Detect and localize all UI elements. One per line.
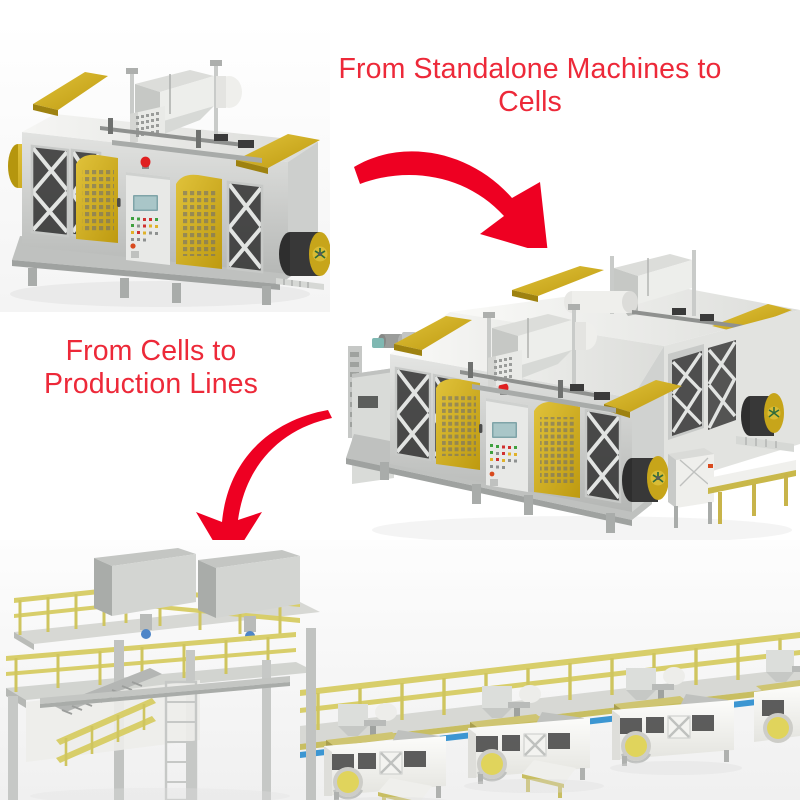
curved-arrow-shape: [354, 151, 548, 254]
caption-cells-to-lines: From Cells to Production Lines: [6, 335, 296, 401]
rear-film-roll: [741, 393, 784, 436]
photo-production-line: [0, 540, 800, 800]
standalone-machine-render: [0, 22, 330, 312]
guard-window-left: [32, 146, 68, 236]
production-line-render: [0, 540, 800, 800]
guard-window-right: [228, 182, 262, 272]
air-receiver-tank: [216, 76, 242, 108]
cell-service-door-left[interactable]: [436, 379, 482, 470]
cell-front-film-roll: [622, 456, 669, 502]
infographic-canvas: From Standalone Machines to Cells From C…: [0, 0, 800, 800]
photo-cell: [332, 248, 800, 548]
arrow-standalone-to-cell: [352, 132, 592, 258]
front-guard-window-1: [396, 368, 430, 460]
beacon-light-icon: [141, 157, 151, 169]
caption-standalone-to-cells: From Standalone Machines to Cells: [300, 53, 760, 119]
front-guard-window-3: [586, 410, 620, 502]
cell-render: [332, 248, 800, 548]
service-door-right[interactable]: [176, 175, 222, 269]
service-door-left[interactable]: [76, 155, 121, 243]
photo-standalone-machine: [0, 22, 330, 312]
film-roll-right: [279, 232, 330, 276]
cell-service-door-right[interactable]: [534, 402, 580, 498]
cell-air-tank: [575, 322, 597, 350]
unit4-film-roll: [763, 713, 793, 743]
